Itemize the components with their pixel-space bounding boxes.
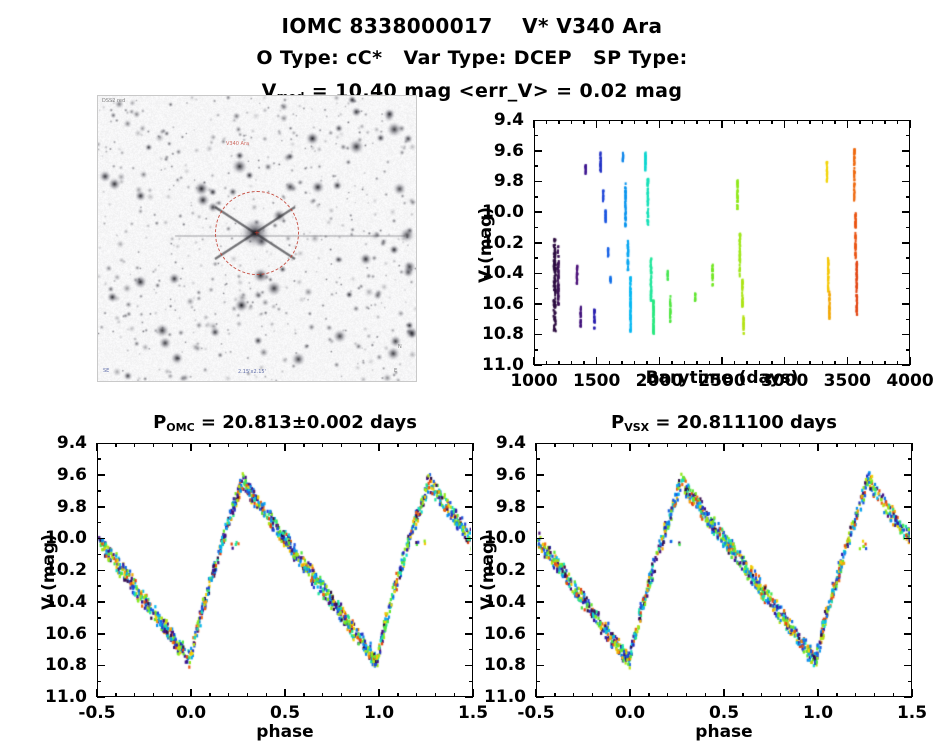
phase-omc-ytick-mark — [97, 443, 105, 445]
phase-vsx-xtick: 0.5 — [709, 703, 739, 723]
phase-vsx-xtick-minor — [705, 443, 707, 447]
phase-vsx-ytick-minor — [536, 681, 540, 683]
lightcurve-ytick-mark — [902, 303, 910, 305]
phase-omc-xtick-minor — [153, 443, 155, 447]
lightcurve-xtick-minor — [634, 120, 636, 124]
phase-vsx-ytick: 9.8 — [456, 497, 526, 517]
phase-vsx-xtick-minor — [893, 693, 895, 697]
lightcurve-xtick-minor — [897, 120, 899, 124]
phase-omc-xtick-minor — [454, 693, 456, 697]
lightcurve-frame — [534, 120, 910, 365]
phase-omc-title-rest: = 20.813±0.002 days — [195, 412, 417, 433]
phase-vsx-xtick-minor — [742, 443, 744, 447]
lightcurve-xtick-minor — [872, 120, 874, 124]
phase-omc-ytick-mark — [97, 601, 105, 603]
target-center-marker: + — [254, 230, 260, 237]
phase-omc-ytick-minor — [469, 617, 473, 619]
lightcurve-xtick-minor — [759, 120, 761, 124]
phase-omc-xtick-minor — [435, 693, 437, 697]
phase-omc-xtick-minor — [115, 443, 117, 447]
lightcurve-xtick-mark — [659, 357, 661, 365]
phase-vsx-ytick: 10.2 — [456, 560, 526, 580]
lightcurve-xtick-minor — [746, 361, 748, 365]
sky-orientation-e: E — [394, 368, 397, 374]
phase-vsx-xtick-minor — [686, 693, 688, 697]
sky-target-label: V340 Ara — [226, 141, 249, 147]
phase-vsx-xtick-minor — [667, 693, 669, 697]
lightcurve-ytick-minor — [534, 257, 538, 259]
lightcurve-xtick-minor — [822, 361, 824, 365]
object-type-line: O Type: cC* Var Type: DCEP SP Type: — [0, 47, 944, 69]
lightcurve-xtick-mark — [659, 120, 661, 128]
lightcurve-xtick-mark — [596, 120, 598, 128]
phase-vsx-ytick-minor — [908, 458, 912, 460]
phase-vsx-xtick-minor — [667, 443, 669, 447]
phase-omc-ytick-minor — [469, 522, 473, 524]
phase-vsx-xtick-mark — [817, 443, 819, 451]
phase-omc-xtick-minor — [266, 443, 268, 447]
phase-vsx-ytick-mark — [536, 443, 544, 445]
phase-vsx-ytick: 9.6 — [456, 465, 526, 485]
phase-omc-ytick-minor — [97, 617, 101, 619]
lightcurve-xtick-minor — [834, 120, 836, 124]
phase-omc-xtick-minor — [341, 443, 343, 447]
phase-vsx-ytick: 10.6 — [456, 624, 526, 644]
phase-omc-xtick-minor — [435, 443, 437, 447]
lightcurve-xtick-minor — [621, 120, 623, 124]
phase-vsx-xtick-minor — [554, 443, 556, 447]
phase-vsx-xtick-minor — [742, 693, 744, 697]
lightcurve-xtick-minor — [646, 120, 648, 124]
phase-vsx-title-sub: VSX — [624, 421, 649, 434]
lightcurve-xtick: 2500 — [698, 371, 745, 391]
phase-omc-xtick-minor — [341, 693, 343, 697]
phase-vsx-ytick-mark — [904, 570, 912, 572]
phase-vsx-xtick-minor — [554, 693, 556, 697]
phase-vsx-ytick-mark — [904, 474, 912, 476]
phase-vsx-xtick-mark — [535, 689, 537, 697]
phase-omc-xtick-minor — [134, 443, 136, 447]
phase-vsx-ytick-minor — [908, 585, 912, 587]
phase-omc-xtick-minor — [209, 443, 211, 447]
phase-vsx-xtick-minor — [592, 693, 594, 697]
phase-omc-ytick-minor — [97, 554, 101, 556]
phase-omc-ytick-minor — [97, 681, 101, 683]
lightcurve-ytick: 9.6 — [454, 141, 524, 161]
phase-vsx-title-prefix: P — [611, 412, 624, 433]
phase-omc-ytick: 10.2 — [17, 560, 87, 580]
lightcurve-xtick-mark — [847, 120, 849, 128]
lightcurve-xtick-minor — [834, 361, 836, 365]
lightcurve-ytick-minor — [534, 196, 538, 198]
phase-vsx-ytick: 10.8 — [456, 655, 526, 675]
lightcurve-xtick-mark — [784, 357, 786, 365]
phase-omc-ytick-mark — [97, 506, 105, 508]
phase-omc-xtick-mark — [378, 689, 380, 697]
phase-omc-title: POMC = 20.813±0.002 days — [153, 412, 417, 434]
lightcurve-xtick-minor — [583, 361, 585, 365]
lightcurve-xtick-minor — [859, 120, 861, 124]
phase-omc-ytick-mark — [97, 633, 105, 635]
phase-omc-xtick-minor — [209, 693, 211, 697]
phase-omc-ytick: 9.8 — [17, 497, 87, 517]
lightcurve-xtick-mark — [721, 120, 723, 128]
phase-omc-ytick: 9.6 — [17, 465, 87, 485]
phase-omc-ytick-mark — [97, 474, 105, 476]
lightcurve-ytick-minor — [906, 288, 910, 290]
phase-vsx-xtick-minor — [573, 693, 575, 697]
phase-vsx-ytick-mark — [536, 474, 544, 476]
phase-omc-ytick: 10.0 — [17, 528, 87, 548]
phase-omc-xtick: 0.0 — [176, 703, 206, 723]
lightcurve-ytick-mark — [534, 334, 542, 336]
lightcurve-xtick-minor — [546, 120, 548, 124]
lightcurve-xtick-minor — [809, 120, 811, 124]
sky-image-panel[interactable]: DSS2 red V340 Ara 2.15'x2.15' SE N E + — [97, 95, 417, 382]
phase-omc-ytick-minor — [469, 681, 473, 683]
phase-omc-xtick-minor — [360, 443, 362, 447]
lightcurve-ytick-mark — [534, 150, 542, 152]
phase-vsx-ytick: 11.0 — [456, 687, 526, 707]
lightcurve-xtick-minor — [571, 120, 573, 124]
lightcurve-xtick-minor — [609, 120, 611, 124]
phase-vsx-xtick-minor — [855, 693, 857, 697]
lightcurve-xtick-minor — [859, 361, 861, 365]
lightcurve-xtick-minor — [759, 361, 761, 365]
phase-vsx-xtick-minor — [761, 443, 763, 447]
phase-omc-ytick-minor — [97, 522, 101, 524]
lightcurve-ytick-minor — [534, 319, 538, 321]
phase-omc-ytick: 10.4 — [17, 592, 87, 612]
lightcurve-xtick-minor — [746, 120, 748, 124]
lightcurve-xtick-minor — [609, 361, 611, 365]
phase-vsx-xtick-minor — [648, 443, 650, 447]
phase-vsx-ytick-minor — [908, 554, 912, 556]
lightcurve-xtick-minor — [671, 120, 673, 124]
phase-omc-frame — [97, 443, 473, 697]
lightcurve-xtick-minor — [696, 120, 698, 124]
phase-omc-xtick-minor — [322, 693, 324, 697]
phase-vsx-ytick-mark — [904, 506, 912, 508]
phase-omc-ytick-mark — [97, 538, 105, 540]
lightcurve-ytick-mark — [902, 150, 910, 152]
phase-vsx-xtick-minor — [836, 443, 838, 447]
phase-omc-xtick-minor — [397, 693, 399, 697]
phase-vsx-xtick-minor — [780, 693, 782, 697]
lightcurve-xtick-minor — [646, 361, 648, 365]
lightcurve-ytick-mark — [902, 273, 910, 275]
phase-vsx-title: PVSX = 20.811100 days — [611, 412, 837, 434]
phase-vsx-ytick-minor — [536, 458, 540, 460]
phase-vsx-xtick-minor — [799, 443, 801, 447]
lightcurve-xtick-minor — [797, 361, 799, 365]
phase-omc-xtick: -0.5 — [78, 703, 115, 723]
phase-vsx-xlabel: phase — [695, 722, 752, 742]
phase-omc-xtick-minor — [416, 693, 418, 697]
phase-omc-ytick-mark — [97, 697, 105, 699]
lightcurve-xtick-minor — [671, 361, 673, 365]
phase-omc-ytick-minor — [469, 649, 473, 651]
lightcurve-xtick-minor — [797, 120, 799, 124]
lightcurve-xtick-mark — [909, 120, 911, 128]
phase-vsx-xtick-mark — [629, 689, 631, 697]
phase-vsx-ytick-mark — [536, 633, 544, 635]
phase-vsx-xtick: -0.5 — [517, 703, 554, 723]
phase-omc-title-prefix: P — [153, 412, 166, 433]
phase-vsx-ytick-minor — [908, 617, 912, 619]
phase-omc-ytick-minor — [97, 458, 101, 460]
lightcurve-ytick: 10.2 — [454, 233, 524, 253]
phase-omc-xtick-minor — [397, 443, 399, 447]
phase-vsx-ytick: 10.0 — [456, 528, 526, 548]
phase-vsx-xtick-minor — [573, 443, 575, 447]
phase-omc-xtick-minor — [228, 693, 230, 697]
phase-vsx-xtick: 0.0 — [615, 703, 645, 723]
phase-vsx-ytick-minor — [536, 585, 540, 587]
lightcurve-xtick-minor — [809, 361, 811, 365]
phase-omc-canvas — [98, 444, 471, 695]
phase-omc-xtick: 1.0 — [364, 703, 394, 723]
phase-vsx-ytick-mark — [536, 601, 544, 603]
phase-vsx-ytick-mark — [536, 570, 544, 572]
lightcurve-ytick-mark — [902, 242, 910, 244]
phase-vsx-canvas — [537, 444, 910, 695]
lightcurve-xtick: 2000 — [636, 371, 683, 391]
lightcurve-ytick-minor — [906, 227, 910, 229]
phase-omc-xtick-minor — [303, 443, 305, 447]
sky-scale-label: 2.15'x2.15' — [238, 369, 266, 375]
lightcurve-ytick-mark — [902, 334, 910, 336]
lightcurve-xtick-minor — [684, 361, 686, 365]
phase-vsx-xtick-mark — [723, 689, 725, 697]
phase-vsx-frame — [536, 443, 912, 697]
lightcurve-xtick-minor — [696, 361, 698, 365]
phase-omc-ytick-minor — [469, 554, 473, 556]
phase-vsx-xtick-mark — [911, 689, 913, 697]
phase-vsx-xtick-minor — [799, 693, 801, 697]
phase-omc-xtick-minor — [416, 443, 418, 447]
phase-omc-ytick-minor — [97, 490, 101, 492]
lightcurve-xtick-mark — [533, 120, 535, 128]
phase-vsx-ytick-minor — [536, 522, 540, 524]
phase-omc-xlabel: phase — [256, 722, 313, 742]
lightcurve-xtick-minor — [734, 120, 736, 124]
lightcurve-xtick-mark — [533, 357, 535, 365]
phase-omc-xtick-mark — [96, 443, 98, 451]
lightcurve-xtick: 3500 — [824, 371, 871, 391]
phase-vsx-xtick-mark — [817, 689, 819, 697]
phase-vsx-xtick-minor — [611, 693, 613, 697]
lightcurve-ytick-minor — [534, 135, 538, 137]
sky-orientation-n: N — [398, 344, 402, 350]
phase-omc-xtick-minor — [228, 443, 230, 447]
phase-omc-xtick: 0.5 — [270, 703, 300, 723]
phase-vsx-ytick-mark — [904, 665, 912, 667]
lightcurve-xtick-minor — [822, 120, 824, 124]
sky-survey-label: DSS2 red — [102, 98, 125, 104]
lightcurve-ytick-minor — [534, 165, 538, 167]
lightcurve-ytick-mark — [534, 211, 542, 213]
phase-omc-ytick: 9.4 — [17, 433, 87, 453]
phase-vsx-ytick-minor — [908, 681, 912, 683]
lightcurve-xtick-minor — [734, 361, 736, 365]
lightcurve-canvas — [535, 121, 908, 363]
phase-omc-xtick-minor — [454, 443, 456, 447]
phase-vsx-xtick-minor — [874, 443, 876, 447]
phase-omc-xtick-mark — [284, 689, 286, 697]
phase-vsx-ytick: 9.4 — [456, 433, 526, 453]
phase-vsx-ytick-minor — [536, 554, 540, 556]
phase-vsx-ytick-minor — [536, 617, 540, 619]
phase-omc-ytick: 10.6 — [17, 624, 87, 644]
phase-omc-xtick-minor — [247, 693, 249, 697]
lightcurve-ytick-mark — [534, 303, 542, 305]
phase-vsx-ytick-mark — [904, 538, 912, 540]
phase-omc-xtick-minor — [115, 693, 117, 697]
phase-vsx-ytick-minor — [908, 490, 912, 492]
lightcurve-xtick: 3000 — [761, 371, 808, 391]
phase-vsx-ytick-minor — [908, 649, 912, 651]
lightcurve-xtick-minor — [546, 361, 548, 365]
lightcurve-ytick-mark — [534, 181, 542, 183]
phase-vsx-ytick-mark — [904, 601, 912, 603]
phase-omc-ytick-minor — [469, 458, 473, 460]
lightcurve-ytick-minor — [906, 135, 910, 137]
lightcurve-ytick-minor — [906, 196, 910, 198]
lightcurve-xtick-minor — [884, 361, 886, 365]
phase-omc-xtick-minor — [360, 693, 362, 697]
lightcurve-ytick: 9.8 — [454, 171, 524, 191]
phase-omc-xtick-mark — [378, 443, 380, 451]
lightcurve-xtick-minor — [771, 120, 773, 124]
lightcurve-ytick-minor — [906, 319, 910, 321]
lightcurve-xtick-minor — [558, 361, 560, 365]
phase-vsx-xtick: 1.0 — [803, 703, 833, 723]
lightcurve-xtick-minor — [583, 120, 585, 124]
lightcurve-ytick-minor — [534, 288, 538, 290]
phase-vsx-xtick-minor — [893, 443, 895, 447]
lightcurve-ytick: 10.8 — [454, 324, 524, 344]
lightcurve-xtick-mark — [909, 357, 911, 365]
lightcurve-ytick-mark — [534, 273, 542, 275]
phase-vsx-xtick-mark — [629, 443, 631, 451]
lightcurve-ytick: 10.6 — [454, 294, 524, 314]
phase-vsx-ytick-mark — [536, 665, 544, 667]
phase-vsx-ytick-mark — [904, 633, 912, 635]
phase-vsx-ytick-mark — [536, 538, 544, 540]
phase-vsx-xtick-minor — [855, 443, 857, 447]
lightcurve-ytick-mark — [534, 365, 542, 367]
phase-omc-xtick-mark — [284, 443, 286, 451]
phase-omc-title-sub: OMC — [166, 421, 194, 434]
phase-omc-ytick-minor — [469, 490, 473, 492]
lightcurve-ytick: 10.0 — [454, 202, 524, 222]
lightcurve-xtick-minor — [771, 361, 773, 365]
lightcurve-xtick-minor — [709, 361, 711, 365]
lightcurve-xtick: 1500 — [573, 371, 620, 391]
phase-vsx-xtick: 1.5 — [897, 703, 927, 723]
lightcurve-ytick: 10.4 — [454, 263, 524, 283]
lightcurve-xtick-minor — [634, 361, 636, 365]
phase-omc-ytick-minor — [97, 649, 101, 651]
lightcurve-xtick-mark — [596, 357, 598, 365]
phase-vsx-xtick-minor — [592, 443, 594, 447]
lightcurve-xtick-minor — [684, 120, 686, 124]
phase-vsx-xtick-mark — [723, 443, 725, 451]
phase-omc-xtick-minor — [134, 693, 136, 697]
phase-omc-xtick-minor — [172, 443, 174, 447]
phase-vsx-xtick-minor — [648, 693, 650, 697]
lightcurve-ytick-mark — [902, 181, 910, 183]
lightcurve-xtick-minor — [709, 120, 711, 124]
phase-vsx-xtick-minor — [686, 443, 688, 447]
lightcurve-ytick: 9.4 — [454, 110, 524, 130]
phase-vsx-ytick-mark — [536, 697, 544, 699]
phase-vsx-xtick-minor — [705, 693, 707, 697]
lightcurve-ytick-minor — [534, 349, 538, 351]
phase-vsx-ytick: 10.4 — [456, 592, 526, 612]
phase-omc-xtick-minor — [303, 693, 305, 697]
phase-vsx-xtick-minor — [611, 443, 613, 447]
lightcurve-xtick-minor — [571, 361, 573, 365]
phase-vsx-xtick-minor — [761, 693, 763, 697]
lightcurve-xtick-minor — [558, 120, 560, 124]
phase-omc-ytick-minor — [469, 585, 473, 587]
lightcurve-ytick-minor — [906, 349, 910, 351]
phase-vsx-ytick-minor — [908, 522, 912, 524]
sky-orientation-se: SE — [103, 368, 109, 374]
phase-omc-xtick-minor — [247, 443, 249, 447]
phase-omc-xtick-minor — [266, 693, 268, 697]
phase-vsx-ytick-minor — [536, 490, 540, 492]
lightcurve-ytick-mark — [902, 211, 910, 213]
lightcurve-xtick-minor — [872, 361, 874, 365]
lightcurve-xtick: 4000 — [886, 371, 933, 391]
lightcurve-xtick-mark — [721, 357, 723, 365]
phase-omc-ytick-minor — [97, 585, 101, 587]
phase-vsx-xtick-minor — [836, 693, 838, 697]
lightcurve-xtick: 1000 — [510, 371, 557, 391]
phase-omc-xtick-minor — [153, 693, 155, 697]
phase-omc-xtick-mark — [190, 689, 192, 697]
lightcurve-xtick-mark — [847, 357, 849, 365]
phase-vsx-xtick-minor — [780, 443, 782, 447]
phase-omc-ytick: 10.8 — [17, 655, 87, 675]
lightcurve-ytick-mark — [534, 242, 542, 244]
phase-vsx-title-rest: = 20.811100 days — [649, 412, 837, 433]
phase-vsx-xtick-mark — [911, 443, 913, 451]
lightcurve-ytick-minor — [534, 227, 538, 229]
phase-omc-xtick-minor — [322, 443, 324, 447]
phase-omc-xtick-minor — [172, 693, 174, 697]
lightcurve-xtick-minor — [621, 361, 623, 365]
lightcurve-xtick-mark — [784, 120, 786, 128]
page-title: IOMC 8338000017 V* V340 Ara — [0, 14, 944, 38]
lightcurve-xtick-minor — [897, 361, 899, 365]
phase-vsx-xtick-minor — [874, 693, 876, 697]
lightcurve-ytick-mark — [534, 120, 542, 122]
phase-omc-xtick-mark — [190, 443, 192, 451]
phase-omc-ytick-mark — [97, 570, 105, 572]
phase-omc-ytick: 11.0 — [17, 687, 87, 707]
lightcurve-ytick-minor — [906, 257, 910, 259]
phase-omc-xtick-mark — [96, 689, 98, 697]
phase-vsx-ytick-mark — [536, 506, 544, 508]
phase-vsx-xtick-mark — [535, 443, 537, 451]
phase-vsx-ytick-minor — [536, 649, 540, 651]
phase-omc-ytick-mark — [97, 665, 105, 667]
lightcurve-ytick-minor — [906, 165, 910, 167]
